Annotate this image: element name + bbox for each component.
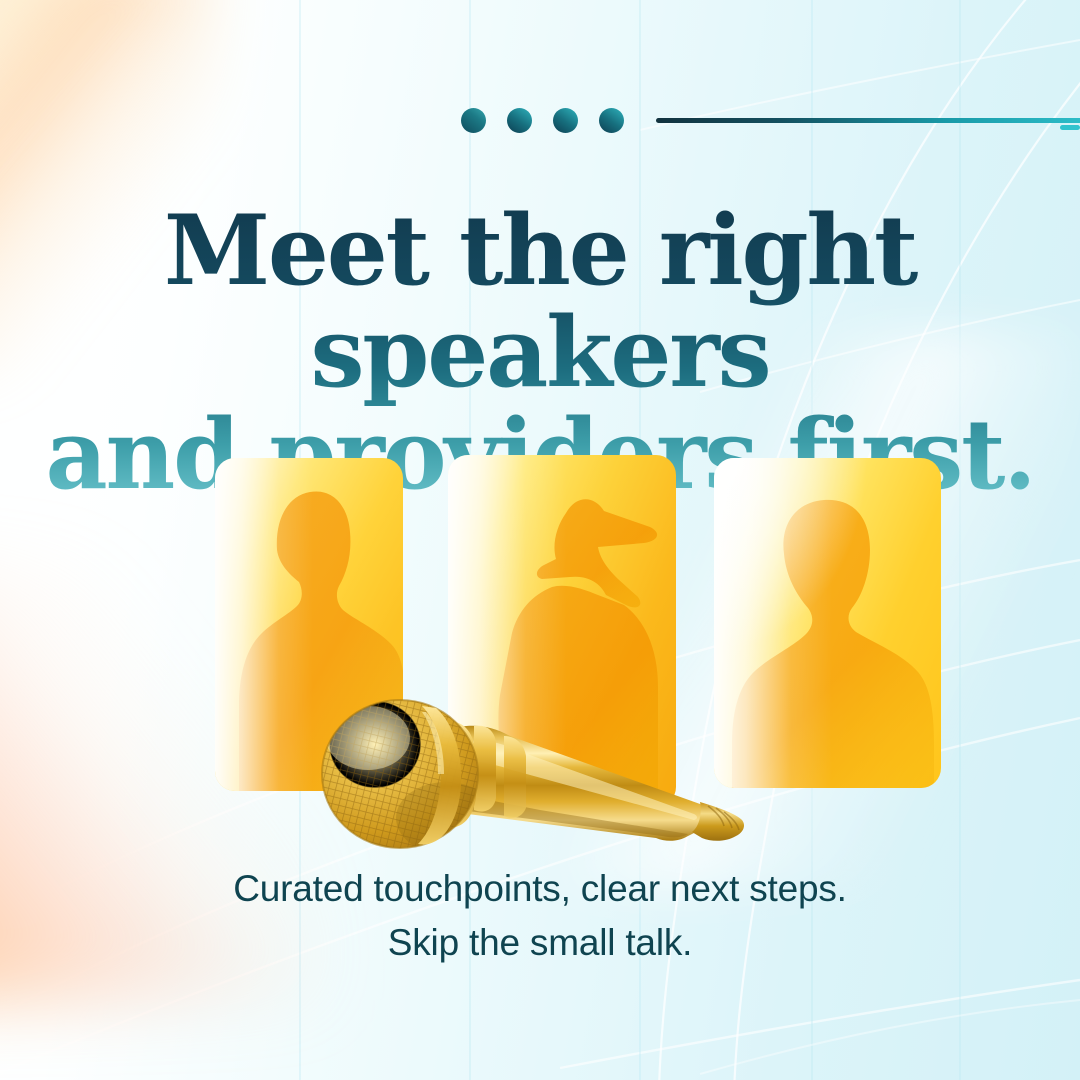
pagination-indicator[interactable] (461, 108, 1080, 133)
pagination-dot-3[interactable] (553, 108, 578, 133)
pagination-progress-line-end (1060, 125, 1080, 130)
page-title: Meet the right speakers and providers fi… (0, 200, 1080, 505)
pagination-dot-1[interactable] (461, 108, 486, 133)
pagination-progress-line (656, 118, 1080, 123)
gold-microphone-icon (296, 686, 748, 858)
slide-canvas: Meet the right speakers and providers fi… (0, 0, 1080, 1080)
pagination-dot-2[interactable] (507, 108, 532, 133)
pagination-dot-4[interactable] (599, 108, 624, 133)
subtitle-text: Curated touchpoints, clear next steps. S… (0, 862, 1080, 970)
